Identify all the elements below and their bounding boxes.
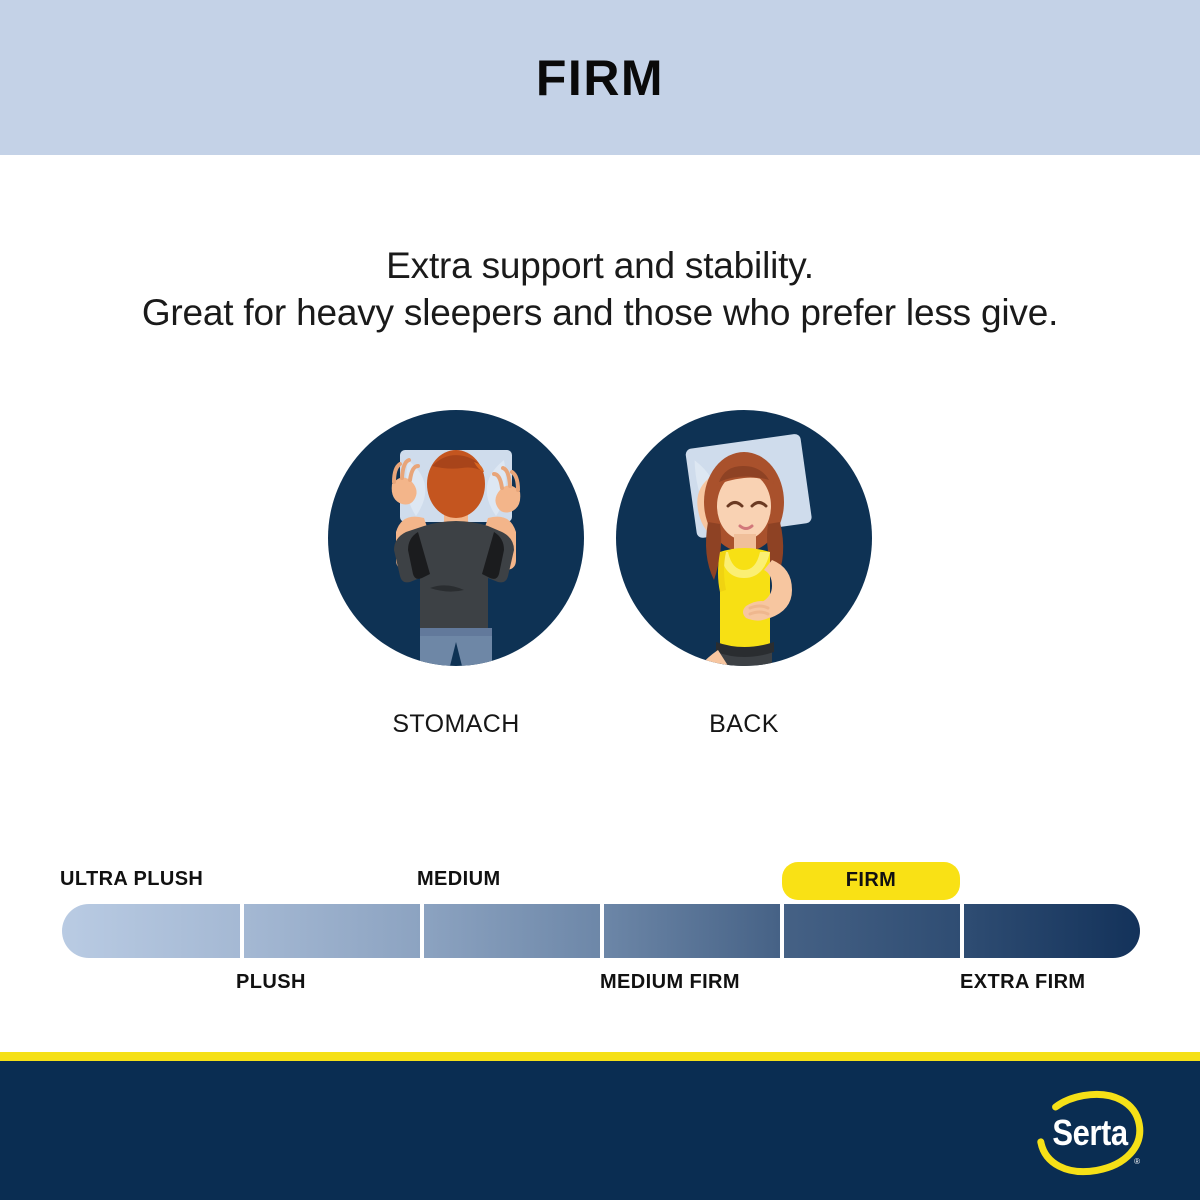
scale-divider-1 xyxy=(240,904,244,958)
firmness-scale: ULTRA PLUSH PLUSH MEDIUM MEDIUM FIRM FIR… xyxy=(0,855,1200,1015)
sleep-positions: STOMACH xyxy=(0,410,1200,755)
page-header: FIRM xyxy=(0,0,1200,155)
page-footer: Serta ® xyxy=(0,1061,1200,1200)
back-sleeper-icon xyxy=(616,410,872,666)
firmness-scale-track[interactable] xyxy=(62,904,1140,958)
scale-divider-4 xyxy=(780,904,784,958)
subtitle-line-1: Extra support and stability. xyxy=(0,243,1200,290)
back-caption: BACK xyxy=(616,710,872,739)
stomach-caption: STOMACH xyxy=(328,710,584,739)
stomach-sleeper-icon xyxy=(328,410,584,666)
scale-label-firm-selected[interactable]: FIRM xyxy=(782,862,960,900)
scale-divider-2 xyxy=(420,904,424,958)
scale-divider-3 xyxy=(600,904,604,958)
scale-label-medium-firm[interactable]: MEDIUM FIRM xyxy=(600,971,740,994)
scale-divider-5 xyxy=(960,904,964,958)
page-title: FIRM xyxy=(536,53,664,103)
footer-accent-stripe xyxy=(0,1052,1200,1061)
sleep-position-back: BACK xyxy=(616,410,872,666)
subtitle-block: Extra support and stability. Great for h… xyxy=(0,243,1200,336)
scale-label-plush[interactable]: PLUSH xyxy=(236,971,306,994)
serta-logo[interactable]: Serta ® xyxy=(1034,1089,1146,1177)
sleep-position-stomach: STOMACH xyxy=(328,410,584,666)
scale-label-medium[interactable]: MEDIUM xyxy=(417,868,501,891)
subtitle-line-2: Great for heavy sleepers and those who p… xyxy=(0,290,1200,337)
registered-trademark-icon: ® xyxy=(1134,1157,1140,1166)
scale-label-extra-firm[interactable]: EXTRA FIRM xyxy=(960,971,1085,994)
scale-label-ultra-plush[interactable]: ULTRA PLUSH xyxy=(60,868,203,891)
serta-wordmark: Serta xyxy=(1042,1089,1138,1177)
